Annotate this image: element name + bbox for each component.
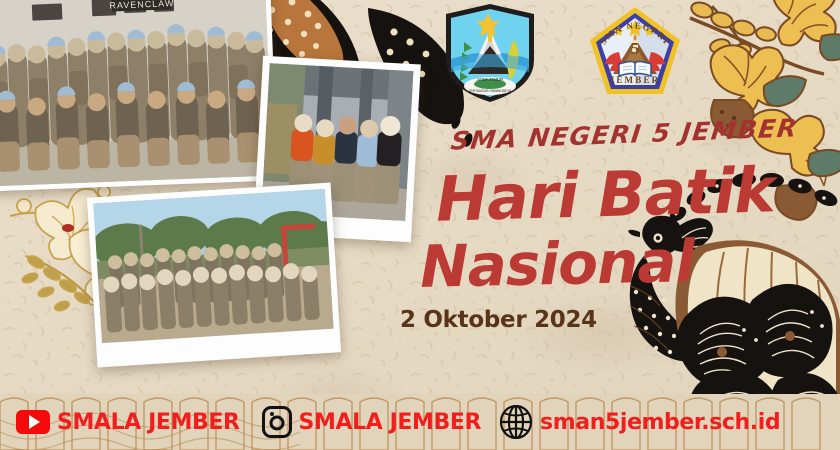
headline-line2: Nasional	[419, 227, 695, 301]
sman5-jember-school-logo-icon: 5 SMA NEGERI JEMBER	[585, 4, 685, 104]
svg-text:JAWA TIMUR: JAWA TIMUR	[477, 77, 504, 82]
photo-group-outdoor	[87, 183, 341, 368]
instagram-icon[interactable]	[262, 406, 292, 438]
globe-icon[interactable]	[499, 405, 533, 439]
svg-text:JER BASUKI MAWA BEYA: JER BASUKI MAWA BEYA	[468, 89, 512, 93]
headline-line1: Hari Batik	[435, 153, 775, 235]
school-logo-bottom-text: JEMBER	[610, 75, 661, 85]
school-name-text: SMA NEGERI 5 JEMBER	[449, 113, 799, 155]
poster-canvas: RAVENCLAW	[0, 0, 840, 450]
event-date-text: 2 Oktober 2024	[400, 307, 597, 333]
east-java-province-emblem-icon: JAWA TIMUR JER BASUKI MAWA BEYA	[438, 2, 542, 106]
footer-social-bar: SMALA JEMBER SMALA JEMBER sman5jember.sc…	[0, 394, 840, 450]
website-label: sman5jember.sch.id	[540, 410, 780, 435]
social-item-instagram[interactable]: SMALA JEMBER	[262, 406, 482, 438]
youtube-label: SMALA JEMBER	[57, 410, 240, 435]
photo-group-indoor: RAVENCLAW	[0, 0, 278, 192]
school-logo-number: 5	[631, 39, 640, 58]
instagram-label: SMALA JEMBER	[299, 410, 482, 435]
social-item-youtube[interactable]: SMALA JEMBER	[16, 410, 240, 435]
social-item-website[interactable]: sman5jember.sch.id	[499, 405, 780, 439]
youtube-icon[interactable]	[16, 410, 50, 434]
